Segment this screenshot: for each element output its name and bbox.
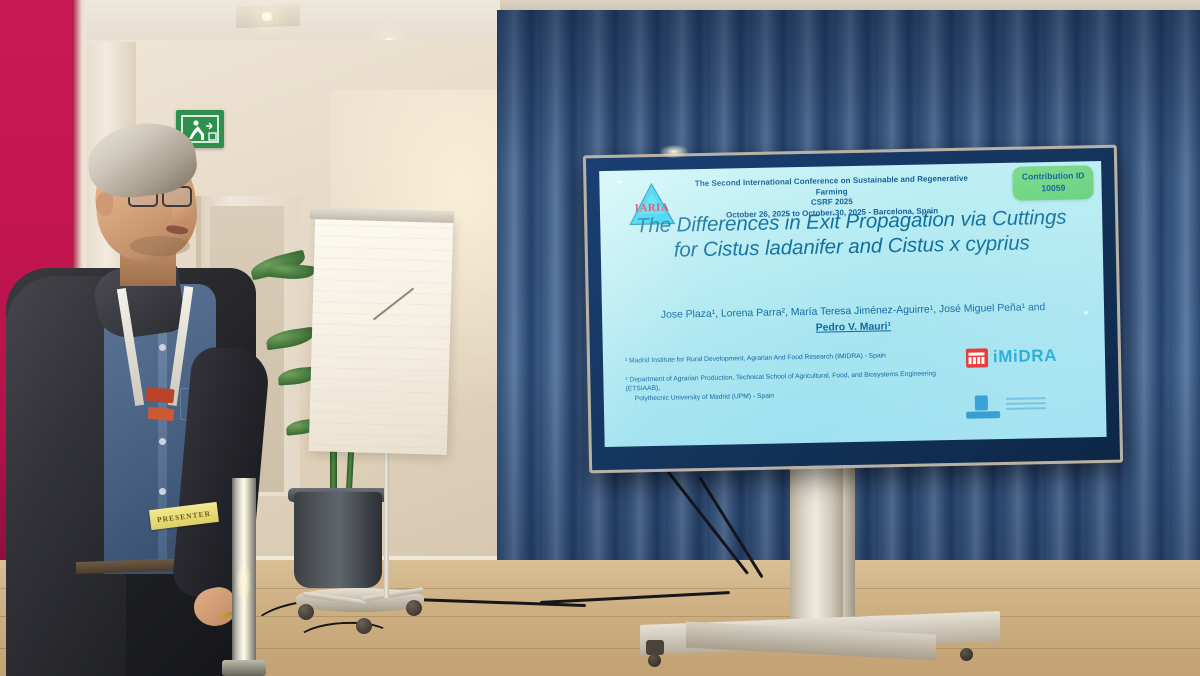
- upm-etsiaab-logo: [966, 394, 1045, 424]
- flipchart-wheel[interactable]: [298, 604, 314, 620]
- contribution-id-label: Contribution ID: [1022, 170, 1085, 183]
- paper-texture: [309, 213, 454, 455]
- presenter: PRESENTER: [0, 118, 270, 676]
- tv-screen[interactable]: IARIA The Second International Conferenc…: [599, 161, 1106, 447]
- affiliation-2: ² Department of Agrarian Production, Tec…: [625, 369, 956, 405]
- screen-speck: [1084, 311, 1088, 314]
- madrid-crest-glyph: [968, 351, 985, 364]
- lanyard-tag: [145, 387, 174, 404]
- upm-subtitle-line: [1006, 402, 1046, 405]
- madrid-crest-icon: [966, 348, 988, 367]
- tv-stand-foot: [646, 640, 664, 655]
- conference-room-photo: IARIA The Second International Conferenc…: [0, 0, 1200, 676]
- pole-base: [222, 660, 266, 676]
- presentation-display[interactable]: IARIA The Second International Conferenc…: [583, 145, 1123, 474]
- upm-badge-icon: [966, 395, 1000, 421]
- upm-subtitle-lines: [1006, 397, 1046, 413]
- contribution-id-value: 10059: [1022, 182, 1085, 195]
- upm-shield-icon: [975, 395, 988, 410]
- flipchart-stem: [384, 452, 389, 598]
- flipchart-wheel[interactable]: [406, 600, 422, 616]
- lanyard-tag: [148, 407, 175, 421]
- tv-stand-rail: [843, 460, 855, 642]
- slide-title: The Differences in Exit Propagation via …: [634, 206, 1069, 264]
- tv-stand-caster[interactable]: [648, 654, 661, 667]
- downlight-icon: [259, 12, 275, 21]
- presenter-chin-shadow: [130, 236, 190, 256]
- presenter-nose: [172, 204, 191, 224]
- imidra-logo: iMiDRA: [966, 346, 1057, 368]
- shirt-button: [159, 344, 166, 351]
- flipchart-wheel[interactable]: [356, 618, 372, 634]
- slide-content: IARIA The Second International Conferenc…: [599, 161, 1106, 447]
- tv-stand-column: [790, 464, 844, 640]
- flipchart-paper[interactable]: [309, 213, 454, 455]
- upm-subtitle-line: [1006, 407, 1046, 410]
- upm-name-bar: [966, 411, 1000, 419]
- imidra-wordmark: iMiDRA: [993, 346, 1057, 367]
- svg-text:IARIA: IARIA: [635, 202, 670, 215]
- pole-highlight: [236, 560, 251, 604]
- affiliation-2-line-2: Polythecnic University of Madrid (UPM) -…: [626, 388, 956, 404]
- shirt-button: [159, 438, 166, 445]
- plant-pot: [294, 492, 382, 588]
- tv-stand-caster[interactable]: [960, 648, 973, 661]
- shirt-button: [159, 488, 166, 495]
- contribution-id-badge: Contribution ID 10059: [1013, 165, 1094, 201]
- upm-subtitle-line: [1006, 397, 1046, 400]
- presenter-ear: [96, 192, 113, 216]
- presenter-ribbon-label: PRESENTER: [157, 508, 212, 524]
- affiliations-block: ¹ Madrid Institute for Rural Development…: [625, 350, 956, 413]
- affiliation-1: ¹ Madrid Institute for Rural Development…: [625, 350, 955, 366]
- authors-block: Jose Plaza¹, Lorena Parra², María Teresa…: [626, 299, 1081, 339]
